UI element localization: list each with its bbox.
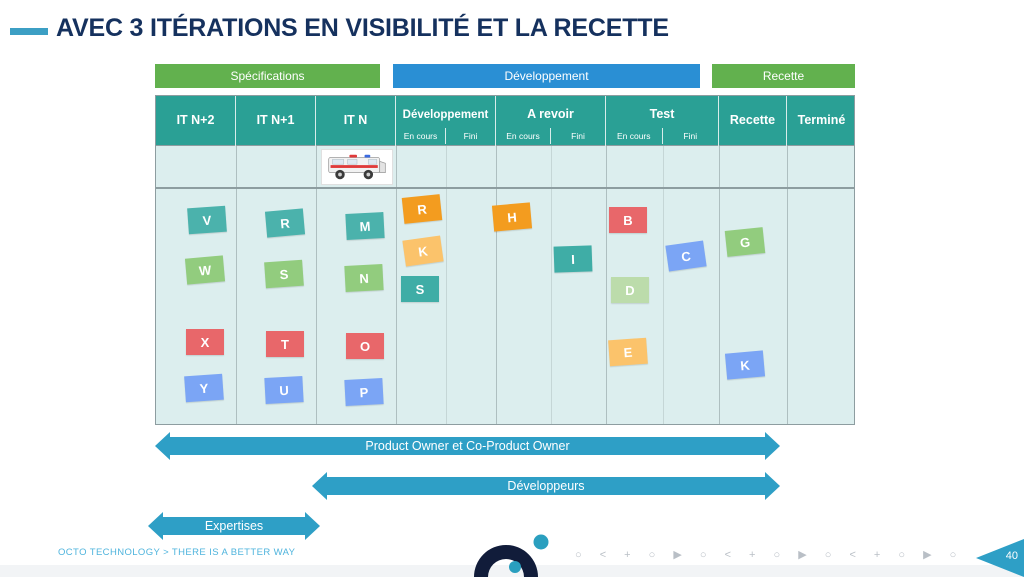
page-number: 40 — [1006, 550, 1018, 562]
page-title: AVEC 3 ITÉRATIONS EN VISIBILITÉ ET LA RE… — [56, 14, 669, 43]
ambulance-icon — [321, 149, 393, 185]
board-card-label: Y — [199, 380, 209, 396]
arrow-head-right-icon — [305, 512, 320, 540]
column-header-developpement[interactable]: DéveloppementEn coursFini — [396, 96, 496, 146]
arrow-head-left-icon — [312, 472, 327, 500]
column-header-it-n[interactable]: IT N — [316, 96, 396, 146]
arrow-head-left-icon — [155, 432, 170, 460]
board-lane-truck — [156, 146, 854, 189]
kanban-board: IT N+2IT N+1IT NDéveloppementEn coursFin… — [155, 95, 855, 425]
column-sub-divider — [446, 146, 447, 187]
board-card[interactable]: B — [609, 207, 647, 233]
board-card-label: B — [623, 213, 632, 228]
board-card-label: O — [360, 339, 370, 354]
column-divider — [606, 146, 607, 187]
board-card[interactable]: X — [186, 329, 224, 355]
board-card[interactable]: K — [725, 350, 765, 379]
board-card-label: W — [198, 262, 212, 278]
board-card-label: S — [416, 282, 425, 297]
phase-banner-3: Recette — [712, 64, 855, 88]
column-header-title: Terminé — [798, 114, 846, 128]
column-sub-divider — [551, 146, 552, 187]
column-sub-divider — [663, 146, 664, 187]
title-accent-dash — [10, 28, 48, 35]
column-header-title: Test — [650, 108, 675, 122]
board-card[interactable]: Y — [184, 374, 224, 403]
slide-title-row: AVEC 3 ITÉRATIONS EN VISIBILITÉ ET LA RE… — [0, 14, 1024, 54]
role-arrow-label: Product Owner et Co-Product Owner — [365, 439, 569, 453]
board-card[interactable]: E — [608, 338, 648, 367]
board-card-label: N — [359, 270, 369, 285]
column-divider — [396, 189, 397, 424]
board-card-label: P — [359, 384, 368, 399]
board-card[interactable]: S — [264, 260, 304, 289]
column-subheader-a-revoir-2[interactable]: Fini — [551, 128, 605, 144]
column-header-title: IT N — [344, 114, 368, 128]
column-header-title: A revoir — [527, 108, 574, 122]
column-divider — [719, 189, 720, 424]
role-arrow-label: Développeurs — [507, 479, 584, 493]
column-divider — [787, 189, 788, 424]
board-card[interactable]: M — [345, 212, 384, 240]
column-subheader-developpement-2[interactable]: Fini — [446, 128, 495, 144]
board-card-label: X — [201, 335, 210, 350]
octo-logo — [468, 532, 563, 577]
board-card[interactable]: C — [665, 240, 706, 271]
board-card-label: T — [281, 337, 289, 352]
column-subheader-developpement-1[interactable]: En cours — [396, 128, 446, 144]
phase-banner-1: Spécifications — [155, 64, 380, 88]
board-card-label: M — [359, 218, 371, 234]
board-card-label: V — [202, 212, 212, 228]
column-header-title: IT N+1 — [257, 114, 295, 128]
board-card-label: K — [417, 243, 428, 259]
column-divider — [236, 146, 237, 187]
column-sub-divider — [446, 189, 447, 424]
board-card[interactable]: N — [344, 264, 383, 292]
board-card-label: U — [279, 382, 289, 397]
column-sub-divider — [551, 189, 552, 424]
column-subheader-a-revoir-1[interactable]: En cours — [496, 128, 551, 144]
column-subheader-row: En coursFini — [396, 128, 495, 144]
board-lane-cards: VWXYRSTUMNOPRKSHIBDECGK — [156, 189, 854, 424]
board-card-label: R — [417, 201, 428, 217]
column-header-a-revoir[interactable]: A revoirEn coursFini — [496, 96, 606, 146]
column-divider — [787, 146, 788, 187]
decorative-glyph-pattern: ○ < + ○ ▶ ○ < + ○ ▶ ○ < + ○ ▶ ○ < + ○ ▶ … — [575, 544, 965, 564]
column-divider — [396, 146, 397, 187]
board-card[interactable]: G — [725, 227, 766, 257]
product-owner-arrow: Product Owner et Co-Product Owner — [155, 432, 780, 460]
board-card[interactable]: V — [187, 206, 227, 235]
page-number-badge: 40 — [976, 539, 1024, 577]
octo-logo-svg — [468, 532, 563, 577]
column-divider — [236, 189, 237, 424]
arrow-head-right-icon — [765, 472, 780, 500]
board-card-label: D — [625, 283, 634, 298]
column-header-recette[interactable]: Recette — [719, 96, 787, 146]
board-card[interactable]: R — [402, 194, 443, 224]
arrow-head-right-icon — [765, 432, 780, 460]
board-card-label: E — [623, 344, 633, 360]
phase-banner-label: Spécifications — [230, 69, 304, 83]
phase-banner-row: SpécificationsDéveloppementRecette — [155, 64, 855, 88]
column-header-termine[interactable]: Terminé — [787, 96, 856, 146]
board-card-label: I — [571, 251, 575, 266]
column-divider — [496, 146, 497, 187]
arrow-head-left-icon — [148, 512, 163, 540]
column-divider — [719, 146, 720, 187]
column-subheader-test-1[interactable]: En cours — [606, 128, 663, 144]
column-header-title: Recette — [730, 114, 775, 128]
column-subheader-row: En coursFini — [496, 128, 605, 144]
board-card-label: C — [680, 248, 691, 264]
board-card[interactable]: T — [266, 331, 304, 357]
board-card-label: H — [507, 209, 518, 225]
developpeurs-arrow: Développeurs — [312, 472, 780, 500]
column-divider — [606, 189, 607, 424]
expertises-arrow: Expertises — [148, 512, 320, 540]
phase-banner-label: Recette — [763, 69, 804, 83]
ambulance-svg — [322, 150, 392, 184]
board-card-label: K — [740, 357, 751, 373]
column-header-test[interactable]: TestEn coursFini — [606, 96, 719, 146]
board-card[interactable]: D — [611, 277, 649, 303]
column-header-it-n-plus-1[interactable]: IT N+1 — [236, 96, 316, 146]
role-arrow-label: Expertises — [205, 519, 263, 533]
board-card[interactable]: R — [265, 208, 305, 237]
board-card[interactable]: O — [346, 333, 384, 359]
column-header-title: IT N+2 — [177, 114, 215, 128]
phase-banner-label: Développement — [504, 69, 588, 83]
column-sub-divider — [663, 189, 664, 424]
column-header-title: Développement — [403, 109, 489, 122]
column-divider — [316, 146, 317, 187]
footer-tagline: OCTO TECHNOLOGY > THERE IS A BETTER WAY — [58, 547, 295, 558]
phase-banner-2: Développement — [393, 64, 700, 88]
column-subheader-row: En coursFini — [606, 128, 718, 144]
board-header: IT N+2IT N+1IT NDéveloppementEn coursFin… — [156, 96, 854, 146]
board-card[interactable]: H — [492, 202, 532, 231]
board-card[interactable]: P — [344, 378, 383, 406]
column-header-it-n-plus-2[interactable]: IT N+2 — [156, 96, 236, 146]
board-card[interactable]: K — [402, 235, 443, 266]
board-card-label: R — [280, 215, 291, 231]
board-card-label: G — [739, 234, 751, 250]
board-card-label: S — [279, 266, 289, 282]
board-card[interactable]: W — [185, 255, 225, 284]
column-divider — [316, 189, 317, 424]
board-card[interactable]: I — [554, 245, 593, 272]
board-card[interactable]: S — [401, 276, 439, 302]
board-card[interactable]: U — [264, 376, 303, 404]
column-subheader-test-2[interactable]: Fini — [663, 128, 719, 144]
